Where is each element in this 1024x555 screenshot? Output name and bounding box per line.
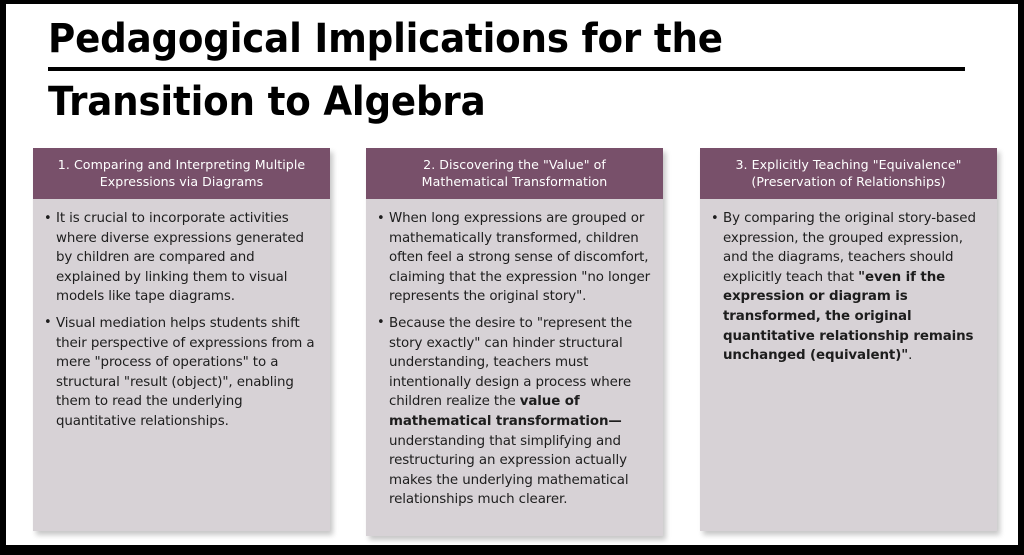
bullet-text: Visual mediation helps students shift th… <box>56 316 315 429</box>
bullet-item: It is crucial to incorporate activities … <box>43 209 318 307</box>
bullet-text: understanding that simplifying and restr… <box>389 434 629 508</box>
bullet-text: It is crucial to incorporate activities … <box>56 211 304 304</box>
bullet-text: When long expressions are grouped or mat… <box>389 211 650 304</box>
slide-frame: Pedagogical Implications for the Transit… <box>0 0 1024 555</box>
card-3-bullet-list: By comparing the original story-based ex… <box>710 209 985 366</box>
implication-card-3: 3. Explicitly Teaching "Equivalence" (Pr… <box>700 148 997 531</box>
bullet-item: By comparing the original story-based ex… <box>710 209 985 366</box>
card-2-header: 2. Discovering the "Value" of Mathematic… <box>366 148 663 199</box>
bullet-item: Because the desire to "represent the sto… <box>376 314 651 510</box>
card-3-header: 3. Explicitly Teaching "Equivalence" (Pr… <box>700 148 997 199</box>
implications-columns: 1. Comparing and Interpreting Multiple E… <box>27 148 997 536</box>
page-title-line-1: Pedagogical Implications for the <box>48 12 965 71</box>
card-2-bullet-list: When long expressions are grouped or mat… <box>376 209 651 510</box>
bullet-item: Visual mediation helps students shift th… <box>43 314 318 432</box>
implication-card-1: 1. Comparing and Interpreting Multiple E… <box>33 148 330 531</box>
bullet-text: Because the desire to "represent the sto… <box>389 316 632 409</box>
slide-title: Pedagogical Implications for the Transit… <box>48 12 978 129</box>
bullet-item: When long expressions are grouped or mat… <box>376 209 651 307</box>
card-1-bullet-list: It is crucial to incorporate activities … <box>43 209 318 432</box>
card-1-header: 1. Comparing and Interpreting Multiple E… <box>33 148 330 199</box>
card-3-body: By comparing the original story-based ex… <box>700 199 997 376</box>
card-1-body: It is crucial to incorporate activities … <box>33 199 330 442</box>
implication-card-2: 2. Discovering the "Value" of Mathematic… <box>366 148 663 536</box>
card-2-body: When long expressions are grouped or mat… <box>366 199 663 520</box>
slide-canvas: Pedagogical Implications for the Transit… <box>6 4 1018 545</box>
bullet-text: . <box>908 348 912 363</box>
page-title-line-2: Transition to Algebra <box>48 71 913 129</box>
